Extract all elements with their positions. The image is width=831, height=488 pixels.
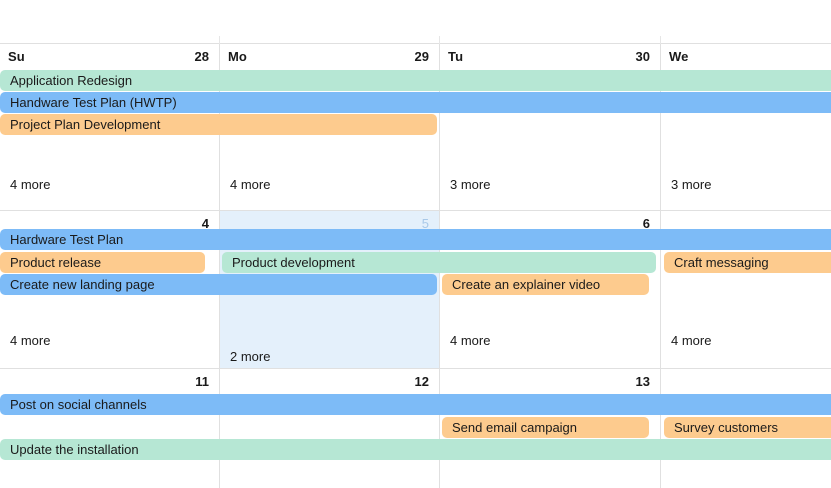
day-number[interactable]: 28	[195, 49, 209, 64]
day-cell-we[interactable]: We 3 more	[660, 44, 831, 210]
calendar-event[interactable]: Handware Test Plan (HWTP)	[0, 92, 831, 113]
calendar-event[interactable]: Post on social channels	[0, 394, 831, 415]
calendar-event[interactable]: Survey customers	[664, 417, 831, 438]
week-row-3: 11 12 13 Post on social channels Send em…	[0, 369, 831, 488]
more-events-link[interactable]: 4 more	[10, 177, 50, 192]
day-of-week-label: Mo	[228, 49, 247, 64]
column-divider	[219, 36, 220, 44]
calendar-event[interactable]: Create an explainer video	[442, 274, 649, 295]
day-cell-mo-12[interactable]: 12	[219, 369, 439, 488]
week-row-1: Su 28 4 more Mo 29 4 more Tu 30 3 more W…	[0, 44, 831, 211]
calendar-event[interactable]: Update the installation	[0, 439, 831, 460]
calendar-event[interactable]: Application Redesign	[0, 70, 831, 91]
calendar-top-strip	[0, 0, 831, 44]
calendar-event[interactable]: Create new landing page	[0, 274, 437, 295]
day-of-week-label: Tu	[448, 49, 463, 64]
calendar-event[interactable]: Craft messaging	[664, 252, 831, 273]
day-cell-su-11[interactable]: 11	[0, 369, 219, 488]
day-header: 11	[0, 369, 219, 395]
calendar-event[interactable]: Send email campaign	[442, 417, 649, 438]
day-header: Mo 29	[220, 44, 439, 70]
day-header: Tu 30	[440, 44, 660, 70]
column-divider	[439, 36, 440, 44]
day-cell-tu-30[interactable]: Tu 30 3 more	[439, 44, 660, 210]
more-events-link[interactable]: 4 more	[450, 333, 490, 348]
day-number[interactable]: 13	[636, 374, 650, 389]
more-events-link[interactable]: 4 more	[10, 333, 50, 348]
more-events-link[interactable]: 2 more	[230, 349, 270, 364]
day-number[interactable]: 29	[415, 49, 429, 64]
day-of-week-label: Su	[8, 49, 25, 64]
day-header: Su 28	[0, 44, 219, 70]
column-divider	[660, 36, 661, 44]
calendar-event[interactable]: Hardware Test Plan	[0, 229, 831, 250]
day-number[interactable]: 12	[415, 374, 429, 389]
day-header: 12	[220, 369, 439, 395]
day-number[interactable]: 30	[636, 49, 650, 64]
day-header: We	[661, 44, 831, 70]
day-of-week-label: We	[669, 49, 688, 64]
day-header: 13	[440, 369, 660, 395]
more-events-link[interactable]: 3 more	[671, 177, 711, 192]
day-header	[661, 369, 831, 395]
week-row-2: 4 4 more 5 2 more 6 4 more 4 more Hardwa…	[0, 211, 831, 369]
month-calendar: Su 28 4 more Mo 29 4 more Tu 30 3 more W…	[0, 0, 831, 488]
calendar-event[interactable]: Product release	[0, 252, 205, 273]
more-events-link[interactable]: 3 more	[450, 177, 490, 192]
more-events-link[interactable]: 4 more	[230, 177, 270, 192]
calendar-event[interactable]: Project Plan Development	[0, 114, 437, 135]
more-events-link[interactable]: 4 more	[671, 333, 711, 348]
day-number[interactable]: 11	[195, 374, 209, 389]
calendar-event[interactable]: Product development	[222, 252, 656, 273]
